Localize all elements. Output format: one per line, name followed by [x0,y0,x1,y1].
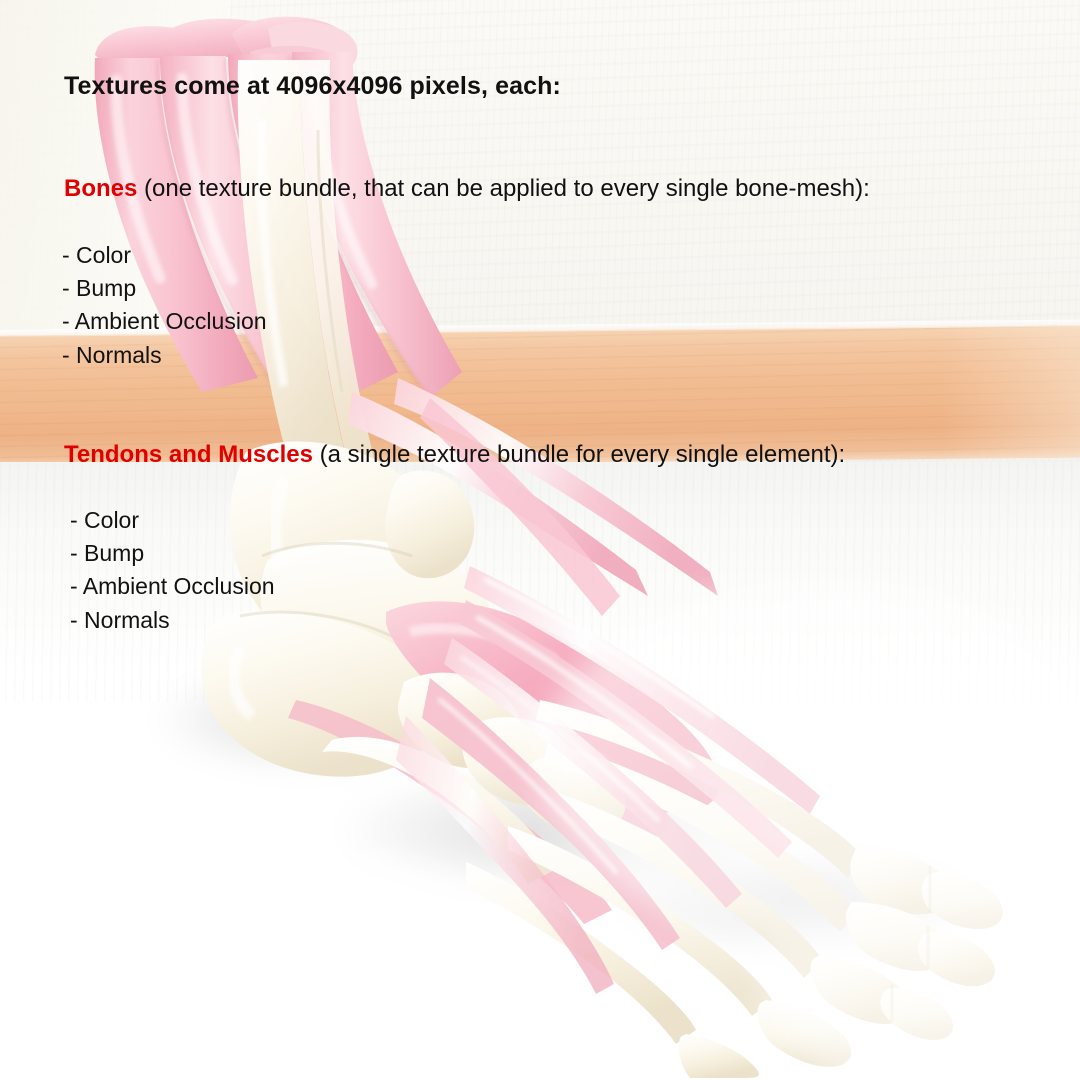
tendons-list-item-bump: - Bump [70,540,144,567]
section-description-bones: (one texture bundle, that can be applied… [137,175,869,202]
tendons-list-item-normals: - Normals [70,607,170,634]
bones-list-item-ambient-occlusion: - Ambient Occlusion [62,308,267,335]
slide-canvas: Textures come at 4096x4096 pixels, each:… [0,0,1080,1080]
bones-list-item-bump: - Bump [62,275,136,302]
tendons-list-item-color: - Color [70,507,139,534]
section-heading-tendons-and-muscles: Tendons and Muscles (a single texture bu… [64,441,845,469]
tendons-list-item-ambient-occlusion: - Ambient Occlusion [70,573,275,600]
section-description-tendons-and-muscles: (a single texture bundle for every singl… [313,441,845,468]
slide-title: Textures come at 4096x4096 pixels, each: [64,72,561,101]
section-keyword-tendons-and-muscles: Tendons and Muscles [64,441,313,468]
bones-list-item-color: - Color [62,242,131,269]
text-overlay: Textures come at 4096x4096 pixels, each:… [0,0,1080,1080]
section-heading-bones: Bones (one texture bundle, that can be a… [64,175,870,203]
section-keyword-bones: Bones [64,175,137,202]
bones-list-item-normals: - Normals [62,342,162,369]
